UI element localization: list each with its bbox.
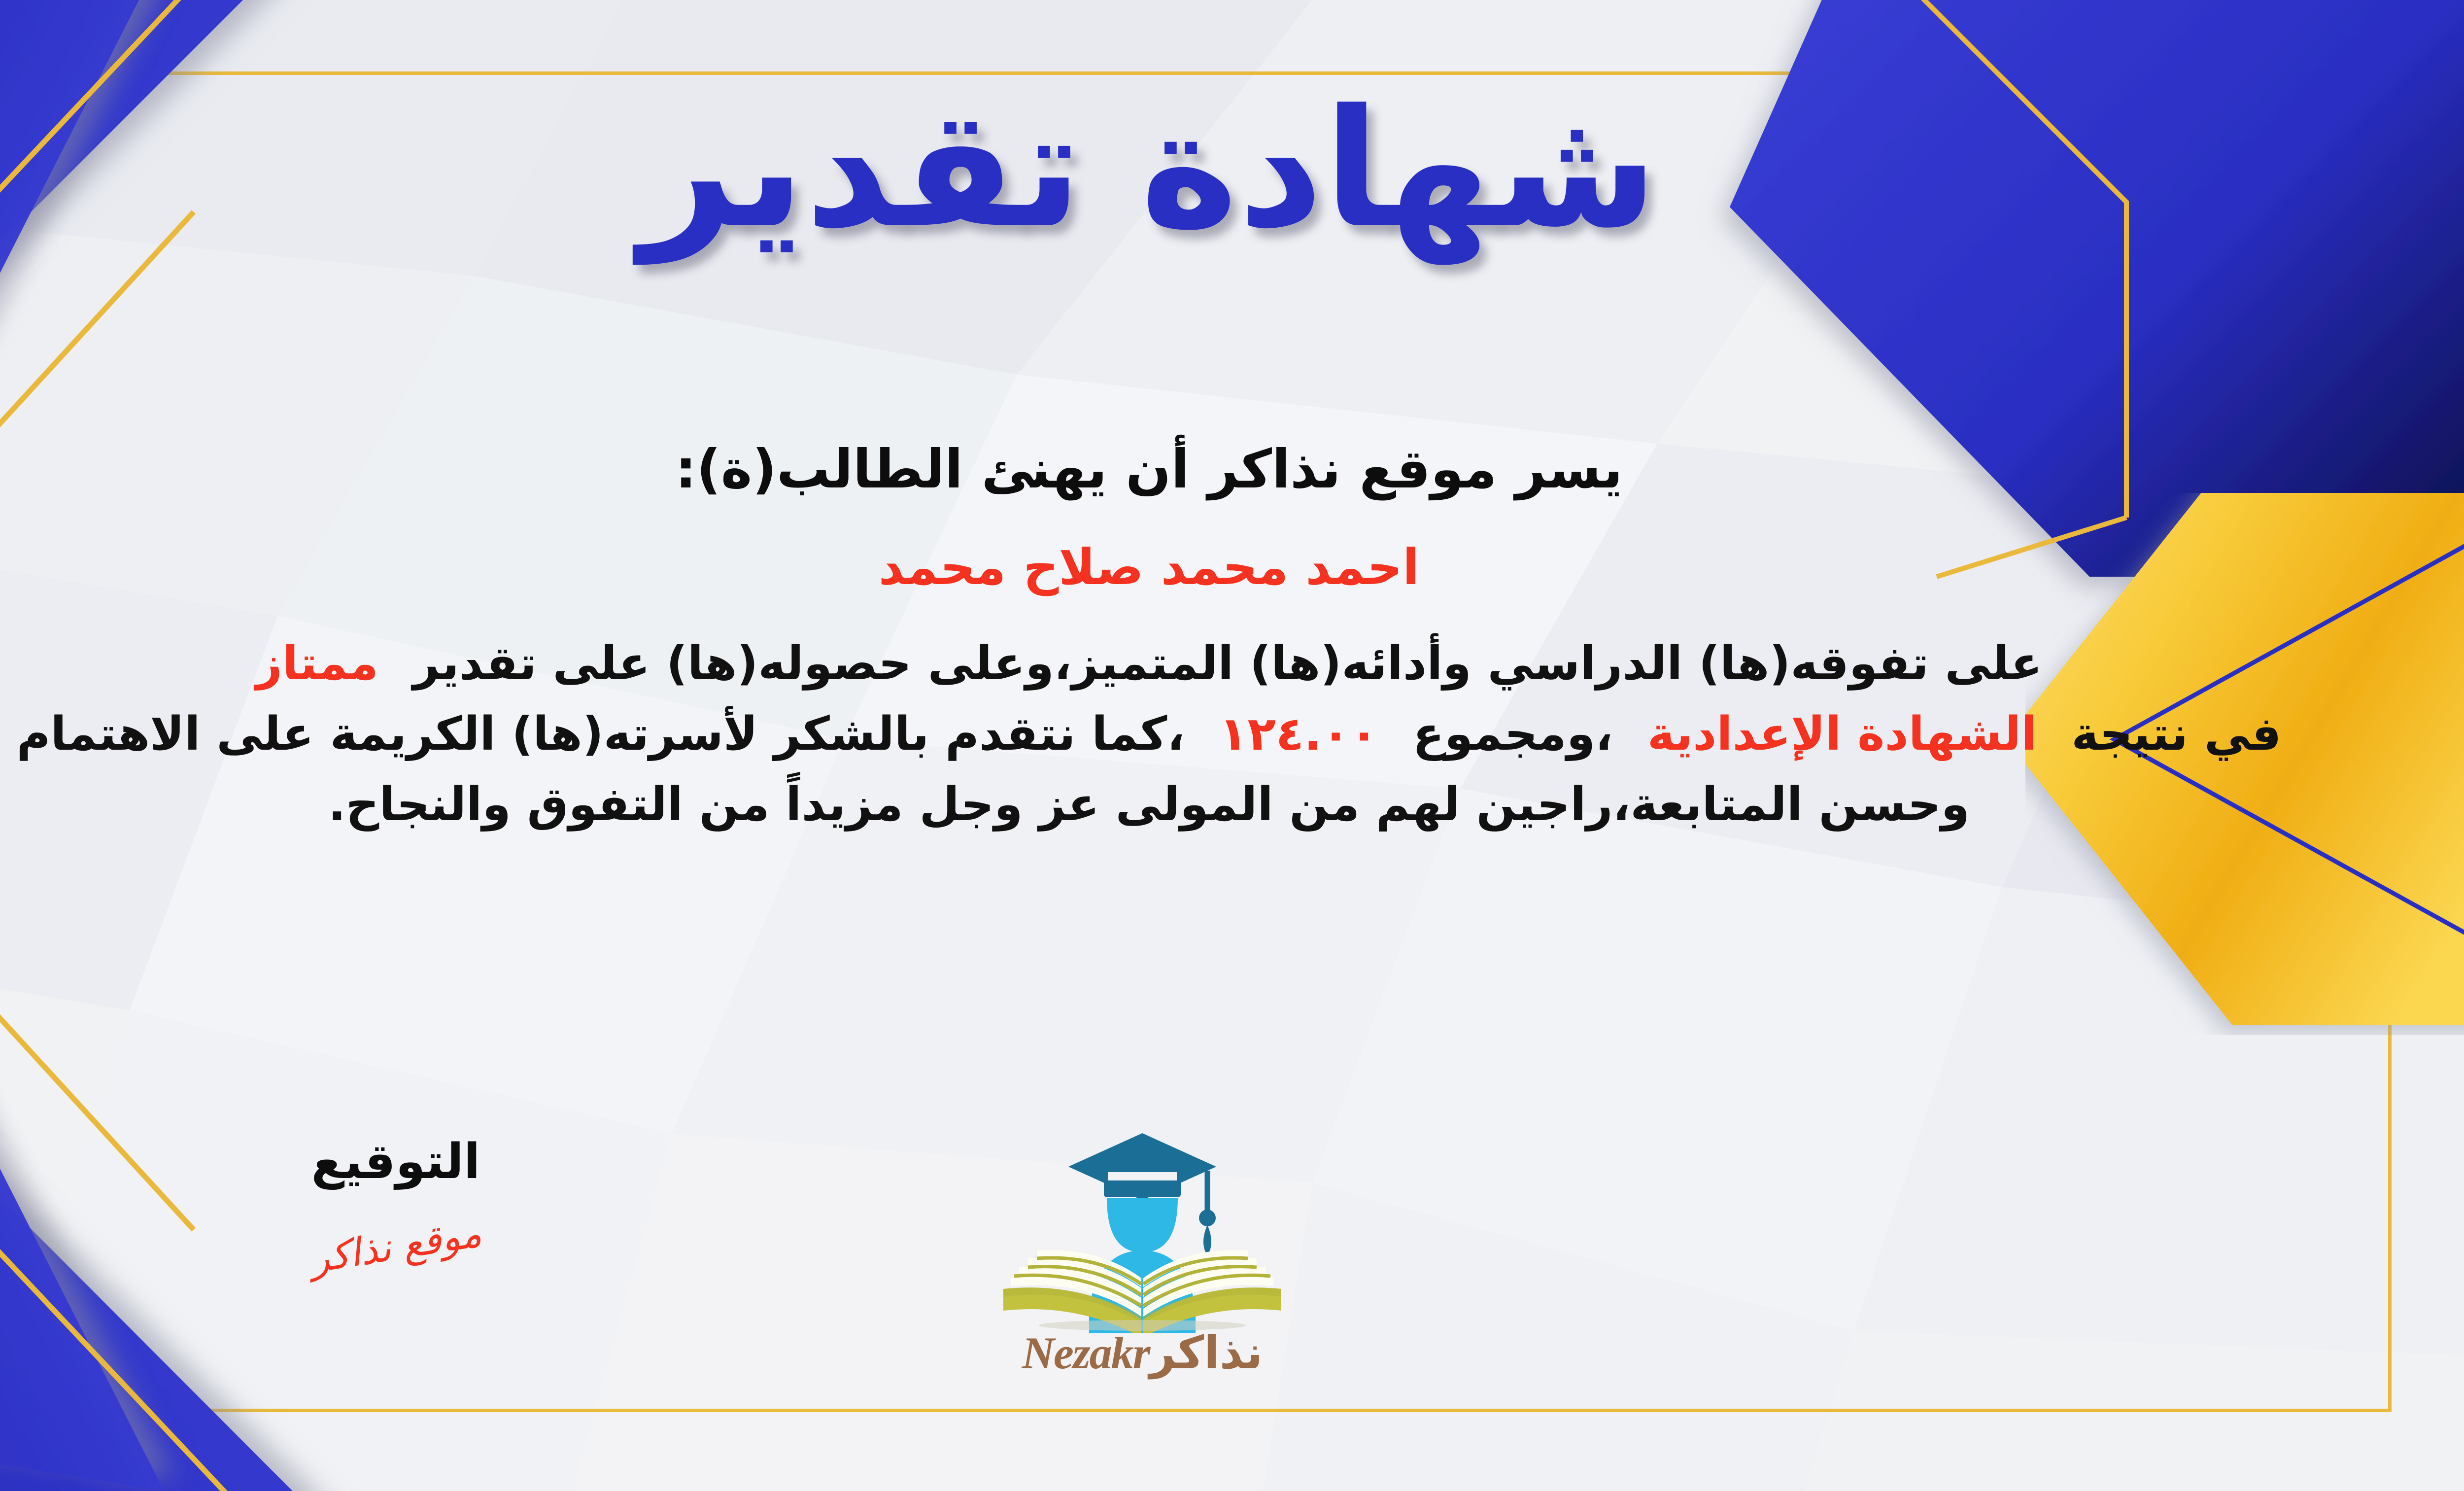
logo-text-latin: Nezakr [1022, 1328, 1150, 1378]
page-title: شهادة تقدير [640, 84, 1658, 255]
para-part-2: في نتيجة [2071, 707, 2281, 761]
para-part-3: ،ومجموع [1413, 707, 1613, 761]
graduate-open-book-icon [985, 1126, 1300, 1333]
signature-label: التوقيع [208, 1134, 583, 1190]
grade-value: ممتاز [256, 637, 378, 691]
site-logo: نذاكرNezakr [962, 1126, 1322, 1379]
intro-line: يسر موقع نذاكر أن يهنئ الطالب(ة): [0, 434, 2390, 506]
total-score: ١٢٤.٠٠ [1219, 707, 1378, 761]
certificate-canvas: شهادة تقدير يسر موقع نذاكر أن يهنئ الطال… [0, 0, 2464, 1491]
signature-block: التوقيع موقع نذاكر [208, 1134, 583, 1269]
exam-name: الشهادة الإعدادية [1647, 707, 2037, 761]
achievement-paragraph: على تفوقه(ها) الدراسي وأدائه(ها) المتميز… [0, 629, 2390, 840]
logo-text-arabic: نذاكر [1149, 1326, 1263, 1379]
para-part-1: على تفوقه(ها) الدراسي وأدائه(ها) المتميز… [413, 637, 2042, 691]
certificate-body: يسر موقع نذاكر أن يهنئ الطالب(ة): احمد م… [0, 434, 2390, 840]
student-name: احمد محمد صلاح محمد [0, 535, 2390, 599]
certificate-title-wrap: شهادة تقدير [0, 84, 2464, 255]
logo-wordmark: نذاكرNezakr [962, 1326, 1322, 1379]
